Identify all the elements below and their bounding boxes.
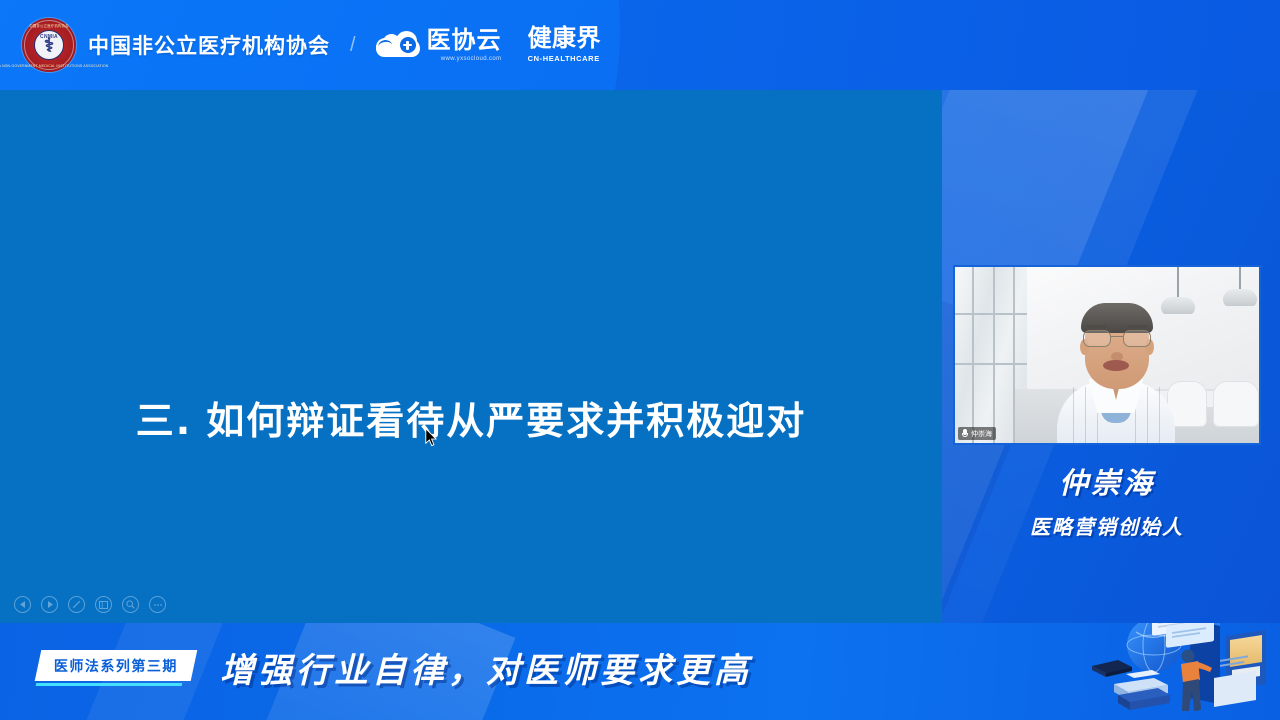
presentation-slide[interactable]: 三.如何辩证看待从严要求并积极迎对 [0,90,942,623]
cloud-plus-icon [376,31,420,59]
participant-name-badge: 仲崇海 [958,427,996,440]
previous-slide-button[interactable] [14,596,31,613]
emblem-bottom-text: CHINA NON-GOVERNMENT MEDICAL INSTITUTION… [0,64,108,68]
zoom-tool-button[interactable] [122,596,139,613]
speaker-person [1051,271,1179,443]
slide-heading: 三.如何辩证看待从严要求并积极迎对 [0,390,942,445]
slide-section-number: 三. [136,399,192,443]
partner-sub-cnhealthcare: CN-HEALTHCARE [528,55,602,63]
caduceus-icon: ⚕ [44,37,54,56]
pendant-lamp-icon [1223,267,1257,306]
next-slide-button[interactable] [41,596,58,613]
emblem-top-text: 中国非公立医疗机构协会 [29,23,69,28]
chair-background [1213,381,1259,427]
association-emblem-icon: 中国非公立医疗机构协会 CNMIA ⚕ CHINA NON-GOVERNMENT… [22,18,76,72]
program-title: 增强行业自律，对医师要求更高 [220,643,752,692]
partner-name-jiankangjie: 健康界 [528,27,602,51]
microphone-icon [962,429,968,438]
header-bar: 中国非公立医疗机构协会 CNMIA ⚕ CHINA NON-GOVERNMENT… [0,0,1280,90]
speaker-video-tile[interactable]: 仲崇海 [953,265,1261,445]
series-badge-accent-line [36,683,183,686]
presentation-toolbar[interactable] [14,596,166,613]
association-name: 中国非公立医疗机构协会 [88,30,330,60]
partner-name-yixieyun: 医协云 [427,29,502,53]
series-badge: 医师法系列第三期 [35,650,198,681]
speaker-caption: 仲崇海 医略营销创始人 [953,460,1261,540]
series-badge-label: 医师法系列第三期 [54,656,178,676]
header-divider: / [350,34,356,57]
participant-name: 仲崇海 [971,429,992,439]
slide-grid-button[interactable] [95,596,112,613]
speaker-name: 仲崇海 [953,460,1261,502]
pen-tool-button[interactable] [68,596,85,613]
more-options-button[interactable] [149,596,166,613]
slide-heading-text: 如何辩证看待从严要求并积极迎对 [206,399,806,443]
footer-banner: 医师法系列第三期 增强行业自律，对医师要求更高 [0,623,1280,720]
partner-logo-yixieyun: 医协云 www.yxsocloud.com [376,29,502,62]
education-illustration [1080,623,1276,720]
glasses-icon [1081,330,1153,347]
partner-url-yixieyun: www.yxsocloud.com [427,56,502,62]
speaker-title: 医略营销创始人 [953,511,1261,540]
video-feed: 仲崇海 [955,267,1259,443]
partner-logo-cnhealthcare: 健康界 CN-HEALTHCARE [528,27,602,63]
